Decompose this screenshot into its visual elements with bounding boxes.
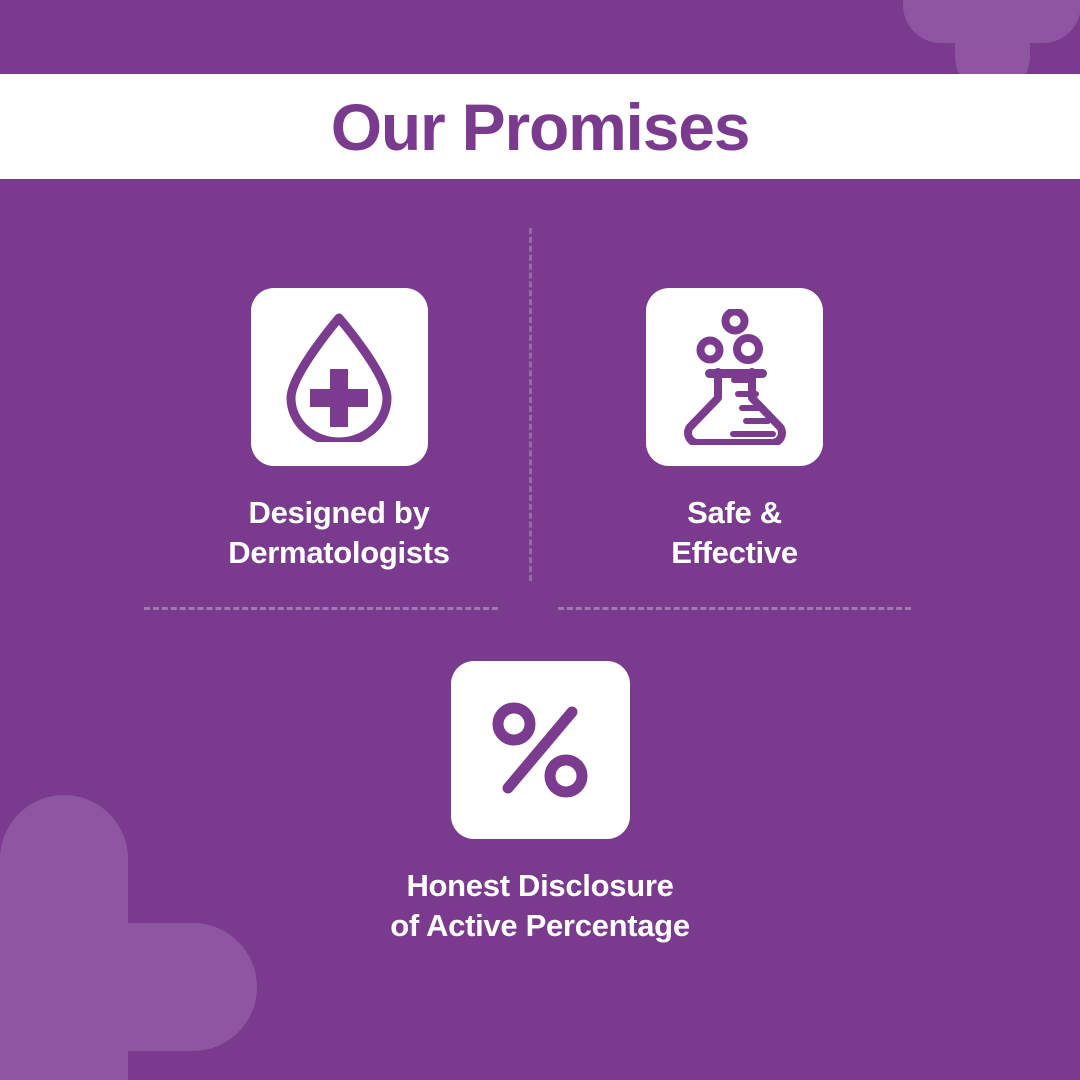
icon-card (451, 661, 630, 839)
promise-item-dermatologists: Designed by Dermatologists (148, 288, 530, 572)
promise-item-safe-effective: Safe & Effective (558, 288, 911, 572)
promises-graphic: Our Promises Designed by Dermatologists (0, 0, 1080, 1080)
promise-label: Safe & Effective (671, 493, 798, 572)
promise-label: Designed by Dermatologists (228, 493, 449, 572)
horizontal-dashed-divider-left (144, 607, 498, 610)
promises-grid: Designed by Dermatologists (0, 179, 1080, 1080)
icon-card (251, 288, 428, 466)
percent-icon (490, 700, 590, 800)
horizontal-dashed-divider-right (558, 607, 911, 610)
droplet-plus-icon (281, 312, 397, 442)
flask-bubbles-icon (676, 309, 794, 445)
icon-card (646, 288, 823, 466)
page-title: Our Promises (331, 94, 749, 160)
promise-item-honest-disclosure: Honest Disclosure of Active Percentage (340, 661, 740, 945)
title-banner: Our Promises (0, 74, 1080, 179)
promise-label: Honest Disclosure of Active Percentage (390, 866, 690, 945)
cross-horizontal-bar (903, 0, 1080, 43)
